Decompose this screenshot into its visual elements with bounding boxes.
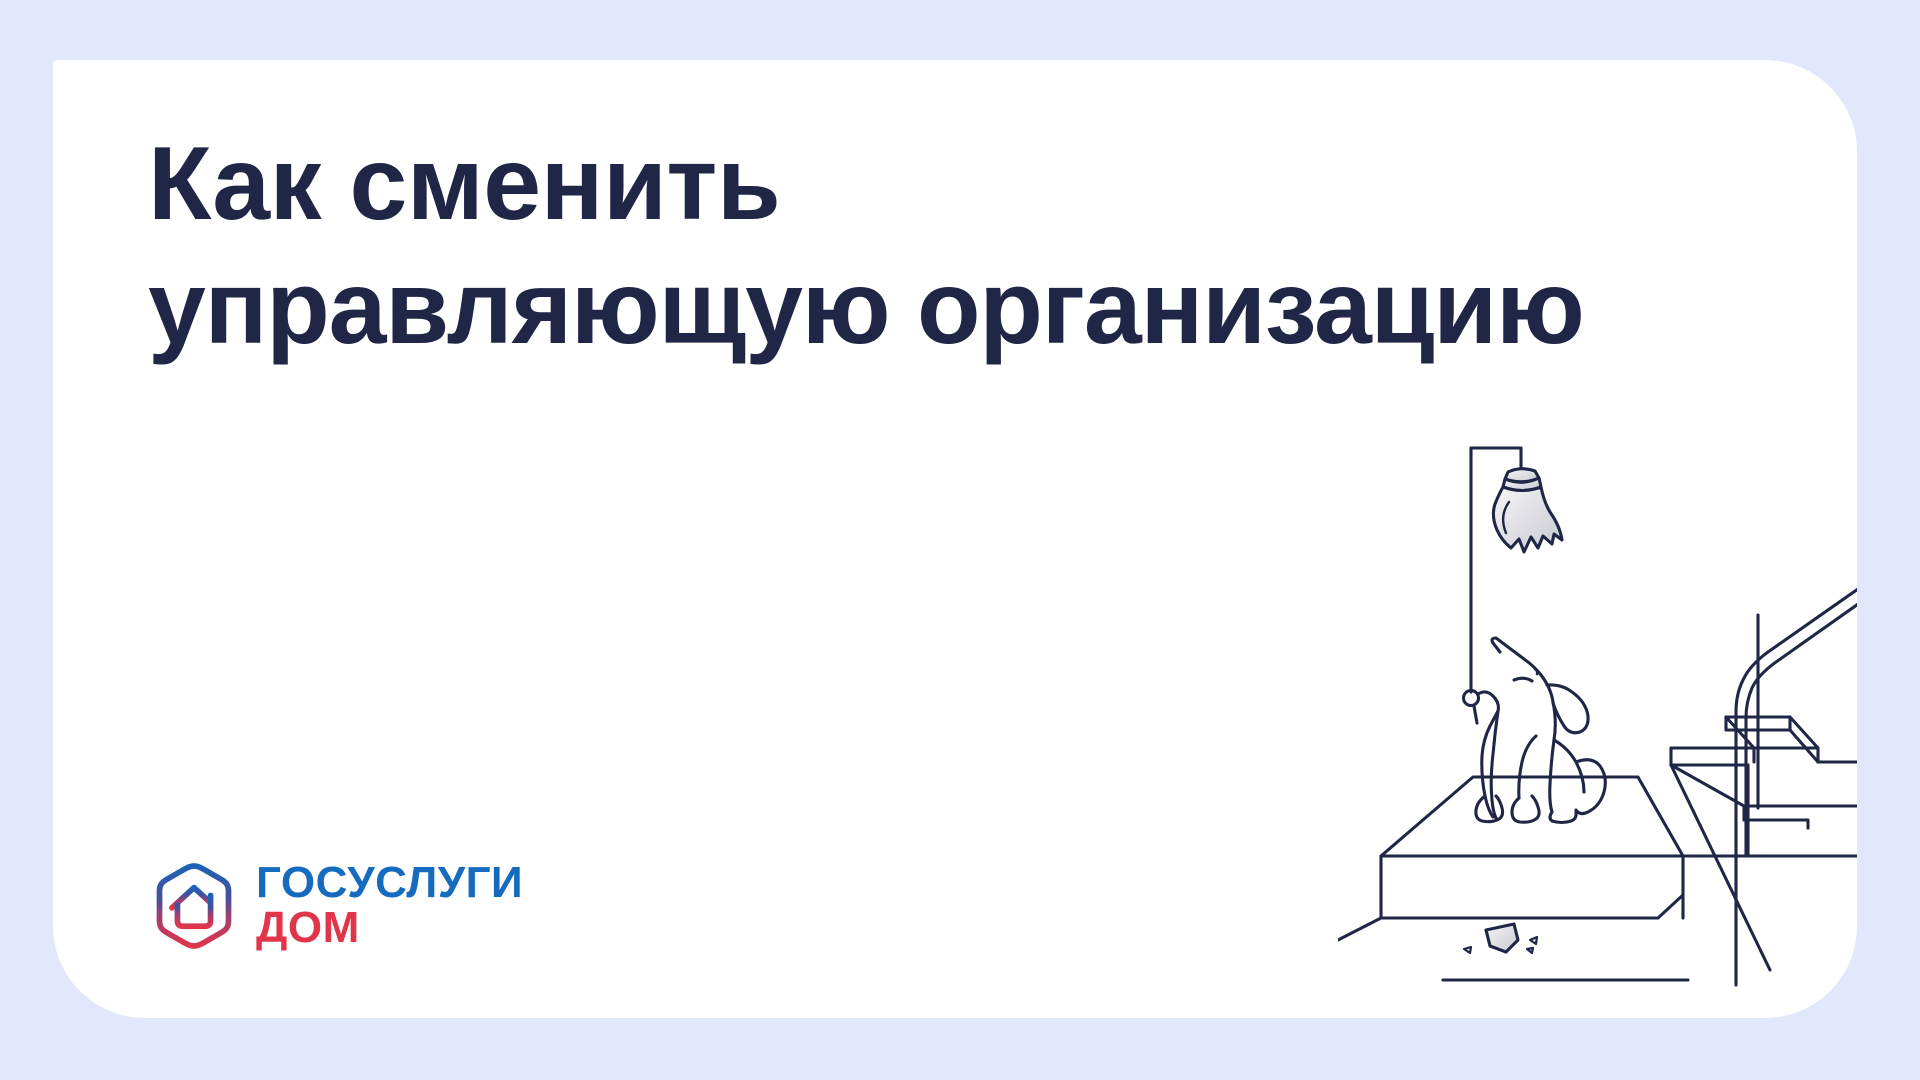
brand-logo-wordmark: ГОСУСЛУГИ ДОМ [256,860,523,952]
brand-word-gosuslugi: ГОСУСЛУГИ [256,860,523,905]
house-hexagon-icon [148,860,240,952]
page-title: Как сменить управляющую организацию [148,122,1598,370]
brand-word-dom: ДОМ [256,905,523,950]
brand-logo: ГОСУСЛУГИ ДОМ [148,860,523,952]
page-title-line-1: Как сменить [148,122,1598,246]
illustration-dog-broken-lightbulb [1338,440,1857,1018]
content-card: Как сменить управляющую организацию [53,60,1857,1018]
page-title-line-2: управляющую организацию [148,246,1598,370]
poster-canvas: Как сменить управляющую организацию [0,0,1920,1080]
